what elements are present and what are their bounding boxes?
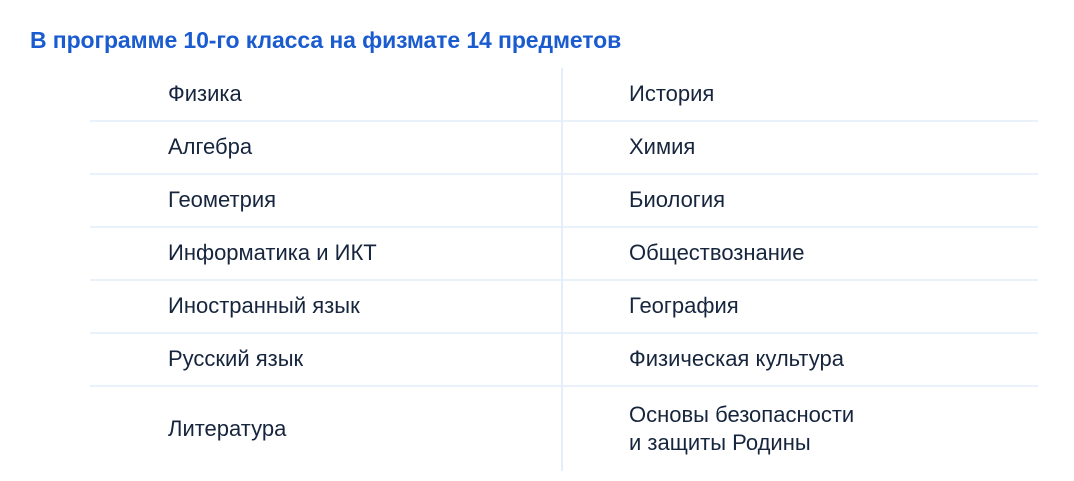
subject-cell-right: География — [562, 280, 1038, 333]
subject-label: Биология — [629, 186, 1038, 214]
subject-label: Литература — [168, 415, 561, 443]
subject-cell-right: История — [562, 68, 1038, 121]
subject-label: Информатика и ИКТ — [168, 239, 561, 267]
subject-cell-right: Биология — [562, 174, 1038, 227]
subject-label: История — [629, 80, 1038, 108]
subject-cell-right: Химия — [562, 121, 1038, 174]
subject-cell-left: Русский язык — [90, 333, 562, 386]
subject-cell-left: Алгебра — [90, 121, 562, 174]
subject-label: Алгебра — [168, 133, 561, 161]
table-row: Информатика и ИКТ Обществознание — [90, 227, 1038, 280]
subject-cell-left: Информатика и ИКТ — [90, 227, 562, 280]
subjects-table-body: Физика История Алгебра Химия Геометрия Б… — [90, 68, 1038, 471]
table-row: Физика История — [90, 68, 1038, 121]
subject-label: Физика — [168, 80, 561, 108]
table-row: Геометрия Биология — [90, 174, 1038, 227]
subject-cell-right: Обществознание — [562, 227, 1038, 280]
table-row: Литература Основы безопасности и защиты … — [90, 386, 1038, 471]
subject-label-continued: и защиты Родины — [629, 429, 1038, 457]
subject-cell-left: Литература — [90, 386, 562, 471]
subject-label: Иностранный язык — [168, 292, 561, 320]
subject-label: Основы безопасности — [629, 401, 1038, 429]
subject-cell-right: Физическая культура — [562, 333, 1038, 386]
subject-cell-left: Иностранный язык — [90, 280, 562, 333]
subject-cell-left: Физика — [90, 68, 562, 121]
subject-label: Химия — [629, 133, 1038, 161]
subject-label: Геометрия — [168, 186, 561, 214]
table-row: Иностранный язык География — [90, 280, 1038, 333]
subject-label: Русский язык — [168, 345, 561, 373]
page-title: В программе 10-го класса на физмате 14 п… — [30, 27, 621, 54]
subject-cell-right: Основы безопасности и защиты Родины — [562, 386, 1038, 471]
subject-label: Физическая культура — [629, 345, 1038, 373]
table-row: Алгебра Химия — [90, 121, 1038, 174]
table-row: Русский язык Физическая культура — [90, 333, 1038, 386]
subjects-table: Физика История Алгебра Химия Геометрия Б… — [90, 68, 1038, 471]
subject-label: Обществознание — [629, 239, 1038, 267]
subject-label: География — [629, 292, 1038, 320]
subject-cell-left: Геометрия — [90, 174, 562, 227]
